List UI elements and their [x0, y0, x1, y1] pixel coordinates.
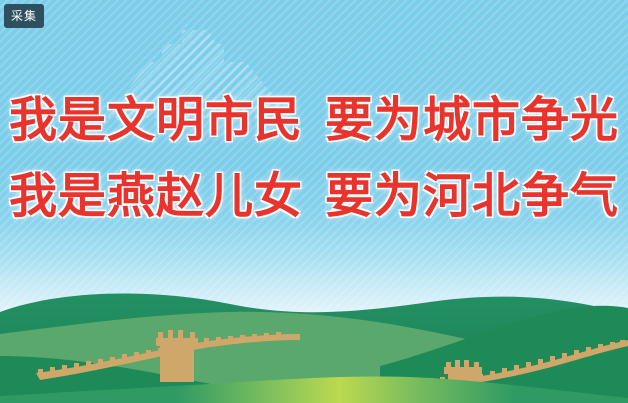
landscape-illustration — [0, 268, 628, 403]
headline-line-2-right: 要为河北争气 — [325, 168, 619, 224]
headline-line-1: 我是文明市民要为城市争光 — [0, 96, 628, 144]
headline-line-2: 我是燕赵儿女要为河北争气 — [0, 172, 628, 220]
headline-block: 我是文明市民要为城市争光 我是燕赵儿女要为河北争气 — [0, 96, 628, 220]
headline-line-1-left: 我是文明市民 — [9, 92, 303, 148]
capture-button[interactable]: 采集 — [4, 4, 44, 28]
poster-image: 我是文明市民要为城市争光 我是燕赵儿女要为河北争气 采集 — [0, 0, 628, 403]
headline-line-2-left: 我是燕赵儿女 — [9, 168, 303, 224]
headline-line-1-right: 要为城市争光 — [325, 92, 619, 148]
